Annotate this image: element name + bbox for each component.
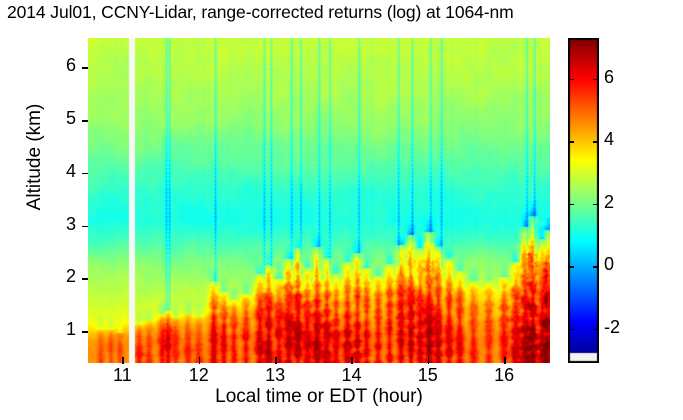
colorbar-tick-mark — [593, 329, 599, 331]
colorbar-tick-mark — [568, 79, 574, 81]
colorbar-canvas[interactable] — [568, 38, 599, 363]
x-tick-label: 13 — [255, 365, 295, 386]
colorbar-tick-mark — [593, 204, 599, 206]
y-tick-label: 5 — [50, 108, 76, 129]
figure-title: 2014 Jul01, CCNY-Lidar, range-corrected … — [7, 2, 514, 23]
y-tick-label: 2 — [50, 266, 76, 287]
y-tick-label: 4 — [50, 161, 76, 182]
x-tick-label: 12 — [179, 365, 219, 386]
y-tick-label: 1 — [50, 319, 76, 340]
colorbar-tick-label: 6 — [604, 67, 614, 88]
x-axis-label: Local time or EDT (hour) — [88, 386, 550, 408]
y-axis-label: Altitude (km) — [24, 87, 46, 227]
x-tick-mark — [504, 357, 506, 364]
colorbar-tick-label: 4 — [604, 129, 614, 150]
x-tick-mark — [122, 357, 124, 364]
colorbar[interactable] — [568, 38, 599, 363]
colorbar-tick-label: 2 — [604, 192, 614, 213]
colorbar-tick-mark — [568, 204, 574, 206]
figure-root: 2014 Jul01, CCNY-Lidar, range-corrected … — [0, 0, 683, 420]
x-tick-mark — [275, 357, 277, 364]
y-tick-label: 6 — [50, 55, 76, 76]
colorbar-tick-mark — [593, 79, 599, 81]
x-tick-label: 15 — [408, 365, 448, 386]
colorbar-tick-mark — [593, 266, 599, 268]
colorbar-tick-mark — [568, 329, 574, 331]
x-tick-mark — [351, 357, 353, 364]
colorbar-tick-label: -2 — [604, 317, 620, 338]
colorbar-tick-mark — [568, 141, 574, 143]
colorbar-tick-label: 0 — [604, 254, 614, 275]
x-tick-mark — [199, 357, 201, 364]
x-tick-label: 14 — [331, 365, 371, 386]
colorbar-tick-mark — [593, 141, 599, 143]
x-tick-label: 11 — [102, 365, 142, 386]
x-tick-mark — [428, 357, 430, 364]
colorbar-tick-mark — [568, 266, 574, 268]
y-tick-label: 3 — [50, 214, 76, 235]
plot-area[interactable] — [88, 38, 550, 363]
x-tick-label: 16 — [484, 365, 524, 386]
lidar-heatmap-canvas[interactable] — [88, 38, 550, 363]
